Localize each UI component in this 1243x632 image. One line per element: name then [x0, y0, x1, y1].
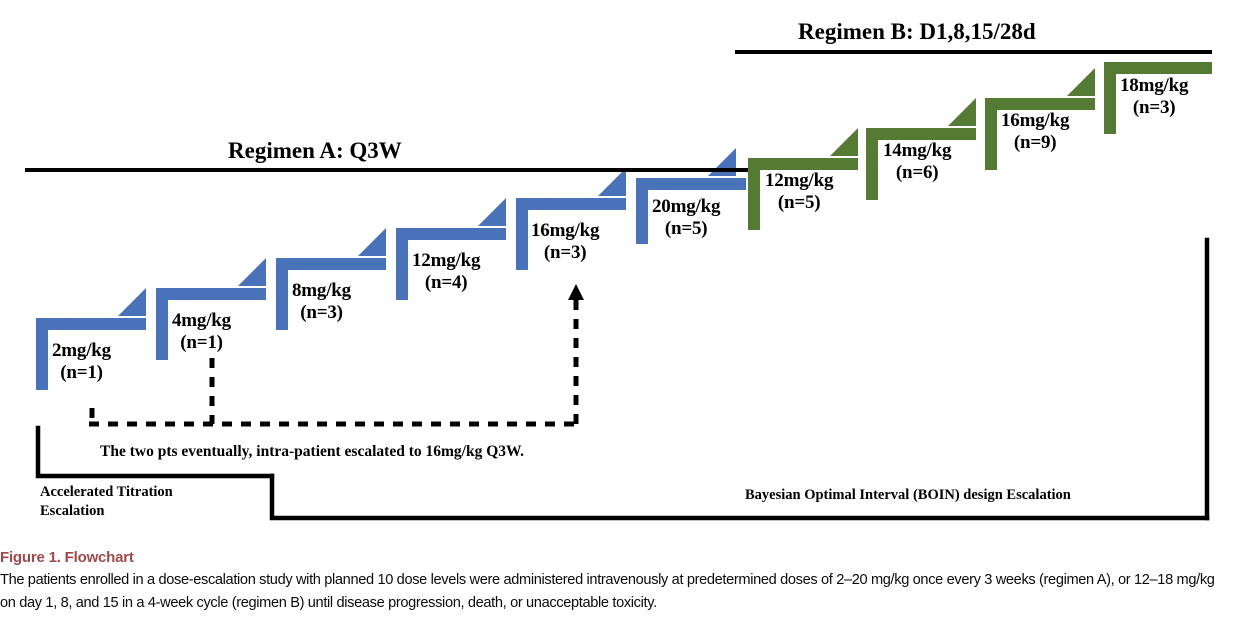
dose-n: (n=1)	[52, 362, 111, 384]
dose-value: 2mg/kg	[52, 340, 111, 361]
accelerated-titration-line2: Escalation	[40, 503, 104, 519]
dose-label-16mgkg-b: 16mg/kg (n=9)	[1001, 110, 1069, 155]
regimen-a-staircase	[36, 148, 746, 390]
dose-value: 18mg/kg	[1120, 75, 1188, 96]
accelerated-titration-line1: Accelerated Titration	[40, 484, 173, 500]
caption-body: The patients enrolled in a dose-escalati…	[0, 569, 1232, 615]
flowchart-vector-layer	[0, 0, 1243, 545]
dose-value: 4mg/kg	[172, 310, 231, 331]
flowchart-canvas: Regimen A: Q3W Regimen B: D1,8,15/28d 2m…	[0, 0, 1243, 545]
figure-caption: Figure 1. Flowchart The patients enrolle…	[0, 545, 1243, 632]
dose-label-4mgkg: 4mg/kg (n=1)	[172, 310, 231, 355]
dose-label-18mgkg: 18mg/kg (n=3)	[1120, 75, 1188, 120]
dose-label-8mgkg: 8mg/kg (n=3)	[292, 280, 351, 325]
dose-n: (n=3)	[1120, 97, 1188, 119]
dose-label-12mgkg-a: 12mg/kg (n=4)	[412, 250, 480, 295]
dose-value: 14mg/kg	[883, 140, 951, 161]
dose-n: (n=5)	[652, 218, 720, 240]
dose-n: (n=4)	[412, 272, 480, 294]
dose-value: 12mg/kg	[765, 170, 833, 191]
intra-patient-escalation-note: The two pts eventually, intra-patient es…	[100, 443, 524, 461]
dose-n: (n=1)	[172, 332, 231, 354]
dose-n: (n=9)	[1001, 132, 1069, 154]
dose-value: 16mg/kg	[1001, 110, 1069, 131]
dose-value: 8mg/kg	[292, 280, 351, 301]
escalation-arrowhead	[568, 284, 584, 300]
dose-label-12mgkg-b: 12mg/kg (n=5)	[765, 170, 833, 215]
dose-label-2mgkg: 2mg/kg (n=1)	[52, 340, 111, 385]
dose-n: (n=3)	[531, 242, 599, 264]
dose-label-14mgkg: 14mg/kg (n=6)	[883, 140, 951, 185]
dose-n: (n=6)	[883, 162, 951, 184]
dose-value: 20mg/kg	[652, 196, 720, 217]
dose-label-20mgkg: 20mg/kg (n=5)	[652, 196, 720, 241]
accelerated-titration-label: Accelerated Titration Escalation	[40, 483, 173, 521]
dose-n: (n=3)	[292, 302, 351, 324]
boin-escalation-label: Bayesian Optimal Interval (BOIN) design …	[745, 486, 1071, 505]
regimen-b-title: Regimen B: D1,8,15/28d	[798, 18, 1036, 45]
figure-1-flowchart: Regimen A: Q3W Regimen B: D1,8,15/28d 2m…	[0, 0, 1243, 632]
dose-label-16mgkg-a: 16mg/kg (n=3)	[531, 220, 599, 265]
caption-title: Figure 1. Flowchart	[0, 549, 1243, 566]
dose-value: 16mg/kg	[531, 220, 599, 241]
regimen-a-title: Regimen A: Q3W	[228, 137, 402, 164]
dose-value: 12mg/kg	[412, 250, 480, 271]
dose-n: (n=5)	[765, 192, 833, 214]
